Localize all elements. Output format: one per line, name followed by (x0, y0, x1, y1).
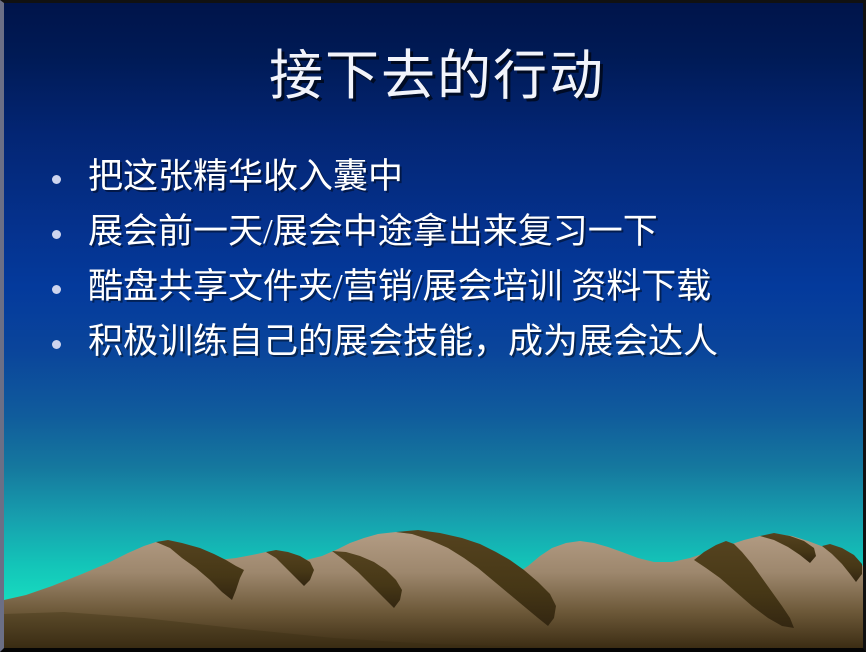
bullet-text: 酷盘共享文件夹/营销/展会培训 资料下载 (88, 265, 844, 309)
bullet-text: 积极训练自己的展会技能，成为展会达人 (88, 320, 844, 364)
bullet-dot-icon (52, 285, 61, 294)
bullet-text: 把这张精华收入囊中 (88, 155, 844, 199)
bullet-dot-icon (52, 340, 61, 349)
list-item: 把这张精华收入囊中 (44, 155, 844, 199)
slide-title: 接下去的行动 (4, 45, 866, 107)
bullet-dot-icon (52, 230, 61, 239)
list-item: 积极训练自己的展会技能，成为展会达人 (44, 320, 844, 364)
list-item: 展会前一天/展会中途拿出来复习一下 (44, 210, 844, 254)
list-item: 酷盘共享文件夹/营销/展会培训 资料下载 (44, 265, 844, 309)
mountain-range-graphic (4, 448, 866, 648)
bullet-dot-icon (52, 175, 61, 184)
slide-bullet-list: 把这张精华收入囊中 展会前一天/展会中途拿出来复习一下 酷盘共享文件夹/营销/展… (44, 155, 844, 375)
presentation-slide: 接下去的行动 把这张精华收入囊中 展会前一天/展会中途拿出来复习一下 酷盘共享文… (0, 0, 866, 652)
bullet-text: 展会前一天/展会中途拿出来复习一下 (88, 210, 844, 254)
